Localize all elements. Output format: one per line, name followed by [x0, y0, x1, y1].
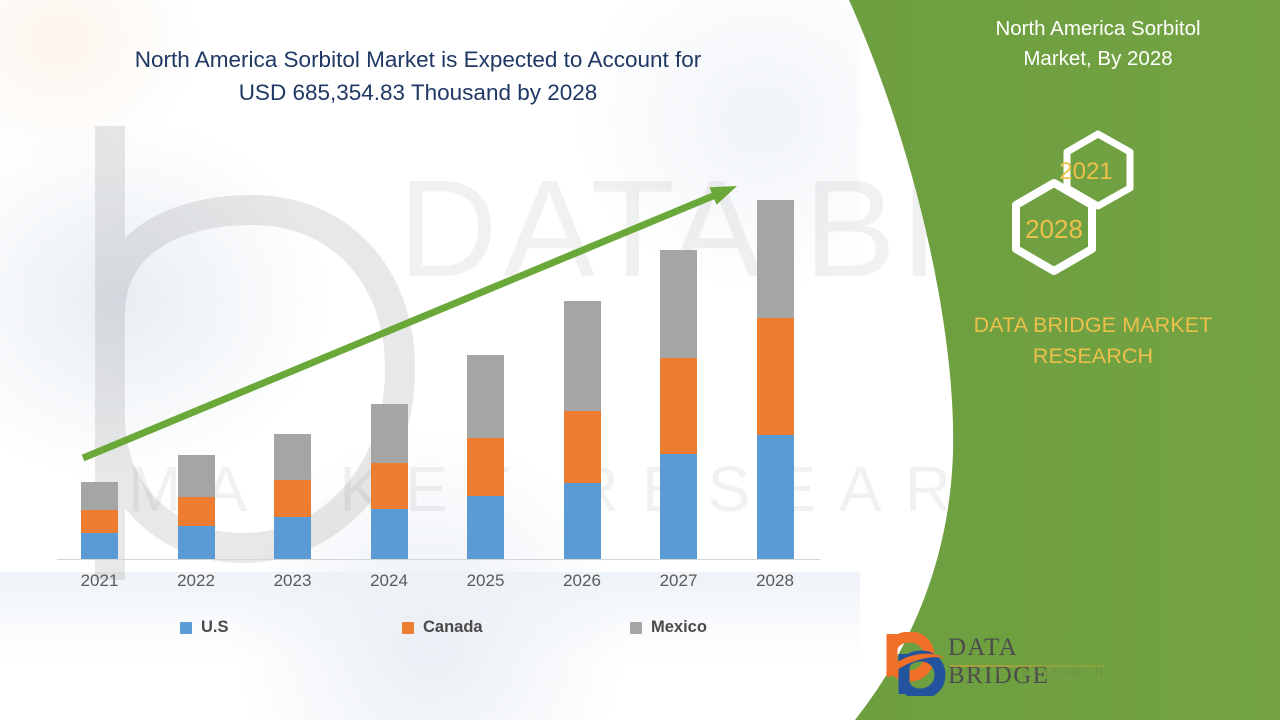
company-logo-tagline: MARKET RESEARCH: [950, 666, 1106, 678]
brand-name-line-1: DATA BRIDGE MARKET: [916, 310, 1270, 341]
bar-segment-mexico-2024: [371, 404, 408, 463]
legend-item-canada[interactable]: Canada: [402, 618, 483, 637]
bar-segment-us-2023: [274, 517, 311, 559]
bar-segment-canada-2025: [467, 438, 504, 496]
chart-x-axis-line: [57, 559, 820, 560]
legend-item-us[interactable]: U.S: [180, 618, 229, 637]
bar-segment-mexico-2022: [178, 455, 215, 497]
legend-label-us: U.S: [201, 618, 229, 637]
legend-label-mexico: Mexico: [651, 618, 707, 637]
brand-panel-heading-line-1: North America Sorbitol: [916, 14, 1280, 44]
bar-segment-mexico-2025: [467, 355, 504, 438]
bar-segment-us-2027: [660, 454, 697, 559]
brand-panel: North America Sorbitol Market, By 2028 2…: [820, 0, 1280, 720]
bar-segment-mexico-2028: [757, 200, 794, 318]
legend-item-mexico[interactable]: Mexico: [630, 618, 707, 637]
company-logo-wordmark: DATA BRIDGE: [948, 634, 1114, 690]
year-hexagons: 2021 2028: [820, 128, 1280, 298]
bar-segment-us-2024: [371, 509, 408, 559]
bar-segment-mexico-2023: [274, 434, 311, 480]
growth-trend-arrow: [0, 0, 860, 720]
x-axis-label-2024: 2024: [341, 571, 437, 591]
bar-segment-us-2026: [564, 483, 601, 559]
bar-2021: [81, 482, 118, 559]
x-axis-label-2025: 2025: [438, 571, 534, 591]
bar-2025: [467, 355, 504, 559]
legend-label-canada: Canada: [423, 618, 483, 637]
bar-2023: [274, 434, 311, 559]
x-axis-label-2027: 2027: [631, 571, 727, 591]
bar-2022: [178, 455, 215, 559]
stacked-bar-chart: 20212022202320242025202620272028: [0, 0, 860, 720]
bar-segment-canada-2023: [274, 480, 311, 517]
bar-segment-mexico-2027: [660, 250, 697, 358]
x-axis-label-2022: 2022: [148, 571, 244, 591]
bar-segment-mexico-2021: [81, 482, 118, 510]
bar-2028: [757, 200, 794, 559]
bar-segment-canada-2024: [371, 463, 408, 509]
brand-name: DATA BRIDGE MARKET RESEARCH: [916, 310, 1270, 372]
infographic-canvas: DATA BRIDGE MARKET RESEARCH North Americ…: [0, 0, 1280, 720]
bar-segment-canada-2022: [178, 497, 215, 526]
bar-segment-canada-2026: [564, 411, 601, 483]
bar-2024: [371, 404, 408, 559]
legend-swatch-canada: [402, 622, 414, 634]
brand-name-line-2: RESEARCH: [916, 341, 1270, 372]
bar-segment-mexico-2026: [564, 301, 601, 411]
bar-segment-canada-2021: [81, 510, 118, 533]
bar-segment-us-2021: [81, 533, 118, 559]
legend-swatch-us: [180, 622, 192, 634]
x-axis-label-2021: 2021: [52, 571, 148, 591]
company-logo-mark-icon: [884, 632, 946, 696]
bar-2027: [660, 250, 697, 559]
x-axis-label-2026: 2026: [534, 571, 630, 591]
bar-segment-us-2028: [757, 435, 794, 559]
bar-segment-canada-2027: [660, 358, 697, 454]
company-logo: DATA BRIDGE MARKET RESEARCH: [884, 632, 1114, 698]
chart-legend: U.SCanadaMexico: [180, 618, 710, 640]
x-axis-label-2028: 2028: [727, 571, 823, 591]
bar-segment-canada-2028: [757, 318, 794, 435]
brand-panel-heading: North America Sorbitol Market, By 2028: [820, 14, 1280, 73]
hexagon-label-2028: 2028: [1014, 214, 1094, 245]
legend-swatch-mexico: [630, 622, 642, 634]
growth-trend-arrow-head: [709, 186, 737, 205]
bar-segment-us-2022: [178, 526, 215, 559]
bar-2026: [564, 301, 601, 559]
hexagon-label-2021: 2021: [1046, 158, 1126, 186]
bar-segment-us-2025: [467, 496, 504, 559]
x-axis-label-2023: 2023: [245, 571, 341, 591]
brand-panel-heading-line-2: Market, By 2028: [916, 44, 1280, 74]
